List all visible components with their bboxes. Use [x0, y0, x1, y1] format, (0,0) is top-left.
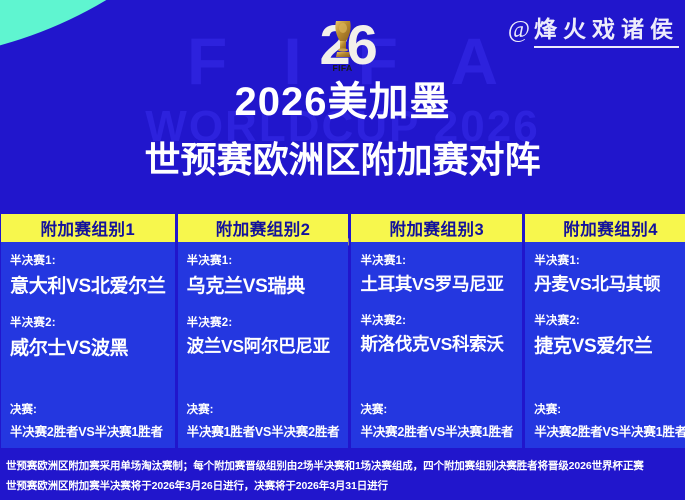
semifinal-1-label: 半决赛1: [187, 252, 340, 268]
playoff-group-card-3: 附加赛组别3 半决赛1: 土耳其VS罗马尼亚 半决赛2: 斯洛伐克VS科索沃 决… [351, 214, 522, 448]
footer-line-1: 世预赛欧洲区附加赛采用单场淘汰赛制；每个附加赛晋级组别由2场半决赛和1场决赛组成… [6, 456, 679, 476]
footer-notes: 世预赛欧洲区附加赛采用单场淘汰赛制；每个附加赛晋级组别由2场半决赛和1场决赛组成… [0, 452, 685, 500]
playoff-group-card-4: 附加赛组别4 半决赛1: 丹麦VS北马其顿 半决赛2: 捷克VS爱尔兰 决赛: … [525, 214, 685, 448]
group-body-1: 半决赛1: 意大利VS北爱尔兰 半决赛2: 威尔士VS波黑 决赛: 半决赛2胜者… [1, 242, 175, 448]
semifinal-1-matchup: 乌克兰VS瑞典 [187, 271, 340, 298]
final-label: 决赛: [360, 401, 513, 417]
semifinal-1-matchup: 意大利VS北爱尔兰 [10, 271, 166, 298]
world-cup-trophy-icon [332, 19, 354, 63]
group-title-label: 附加赛组别1 [40, 216, 135, 240]
group-header-3: 附加赛组别3 [351, 214, 522, 242]
logo-fifa-wordmark: FIFA [320, 63, 366, 73]
final-label: 决赛: [534, 401, 685, 417]
semifinal-1-label: 半决赛1: [534, 252, 685, 268]
fifa-world-cup-26-logo: 26 FIFA [320, 14, 366, 78]
final-matchup: 半决赛1胜者VS半决赛2胜者 [187, 421, 340, 440]
group-header-1: 附加赛组别1 [1, 214, 175, 242]
semifinal-2-label: 半决赛2: [360, 312, 513, 328]
final-label: 决赛: [187, 401, 340, 417]
semifinal-1-matchup: 丹麦VS北马其顿 [534, 271, 685, 296]
page-subtitle: 世预赛欧洲区附加赛对阵 [0, 140, 685, 180]
group-title-label: 附加赛组别3 [389, 216, 484, 240]
semifinal-2-label: 半决赛2: [10, 314, 166, 330]
page-title: 2026美加墨 [0, 80, 685, 124]
semifinal-2-label: 半决赛2: [534, 312, 685, 328]
playoff-group-card-1: 附加赛组别1 半决赛1: 意大利VS北爱尔兰 半决赛2: 威尔士VS波黑 决赛:… [1, 214, 175, 448]
group-body-3: 半决赛1: 土耳其VS罗马尼亚 半决赛2: 斯洛伐克VS科索沃 决赛: 半决赛2… [351, 242, 522, 448]
semifinal-2-matchup: 捷克VS爱尔兰 [534, 331, 685, 358]
group-header-4: 附加赛组别4 [525, 214, 685, 242]
playoff-group-card-2: 附加赛组别2 半决赛1: 乌克兰VS瑞典 半决赛2: 波兰VS阿尔巴尼亚 决赛:… [178, 214, 349, 448]
group-body-2: 半决赛1: 乌克兰VS瑞典 半决赛2: 波兰VS阿尔巴尼亚 决赛: 半决赛1胜者… [178, 242, 349, 448]
semifinal-1-matchup: 土耳其VS罗马尼亚 [360, 271, 513, 296]
group-header-2: 附加赛组别2 [178, 214, 349, 242]
final-matchup: 半决赛2胜者VS半决赛1胜者 [360, 421, 513, 440]
semifinal-2-matchup: 波兰VS阿尔巴尼亚 [187, 333, 340, 358]
semifinal-2-label: 半决赛2: [187, 314, 340, 330]
semifinal-2-matchup: 斯洛伐克VS科索沃 [360, 331, 513, 356]
poster-header: FIFA WORLDCUP 2026 26 FIFA 20 [0, 0, 685, 204]
poster-root: FIFA WORLDCUP 2026 26 FIFA 20 [0, 0, 685, 500]
semifinal-1-label: 半决赛1: [360, 252, 513, 268]
group-body-4: 半决赛1: 丹麦VS北马其顿 半决赛2: 捷克VS爱尔兰 决赛: 半决赛2胜者V… [525, 242, 685, 448]
final-matchup: 半决赛2胜者VS半决赛1胜者 [534, 421, 685, 440]
footer-line-2: 世预赛欧洲区附加赛半决赛将于2026年3月26日进行，决赛将于2026年3月31… [6, 476, 679, 496]
semifinal-2-matchup: 威尔士VS波黑 [10, 333, 166, 360]
group-title-label: 附加赛组别4 [563, 216, 658, 240]
final-label: 决赛: [10, 401, 166, 417]
final-matchup: 半决赛2胜者VS半决赛1胜者 [10, 421, 166, 440]
group-title-label: 附加赛组别2 [216, 216, 311, 240]
playoff-groups-container: 附加赛组别1 半决赛1: 意大利VS北爱尔兰 半决赛2: 威尔士VS波黑 决赛:… [0, 214, 685, 448]
semifinal-1-label: 半决赛1: [10, 252, 166, 268]
